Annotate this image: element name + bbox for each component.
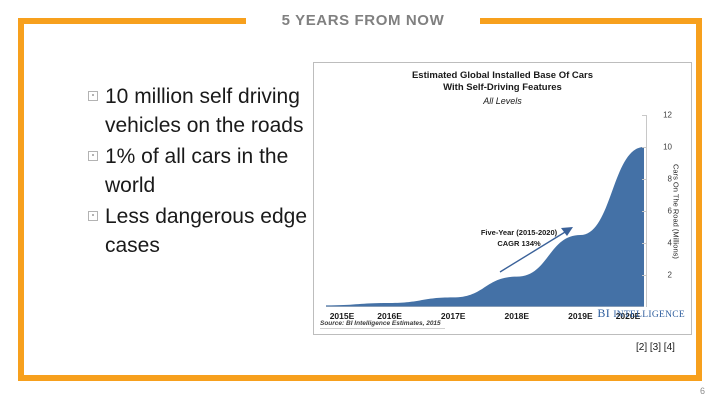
citation-references: [2] [3] [4] (636, 342, 675, 353)
logo-name: INTELLIGENCE (613, 310, 685, 320)
chart-title-line-1: Estimated Global Installed Base Of Cars (314, 70, 691, 82)
cagr-annotation: Five-Year (2015-2020) CAGR 134% (454, 227, 584, 249)
bi-intelligence-logo: BI INTELLIGENCE (597, 306, 685, 321)
bullet-text: 1% of all cars in the world (105, 142, 320, 200)
cagr-annotation-line-1: Five-Year (2015-2020) (454, 227, 584, 238)
y-axis-tick-mark (642, 147, 646, 148)
square-bullet-icon (88, 91, 98, 101)
y-axis-line (646, 115, 647, 307)
frame-border-top-right (480, 18, 702, 24)
square-bullet-icon (88, 211, 98, 221)
bullet-text: 10 million self driving vehicles on the … (105, 82, 320, 140)
chart-title-line-2: With Self-Driving Features (314, 82, 691, 94)
page-number: 6 (700, 386, 705, 396)
y-axis: 12108642 (646, 115, 672, 307)
chart-panel: Estimated Global Installed Base Of Cars … (313, 62, 692, 335)
logo-prefix: BI (597, 306, 610, 320)
frame-border-bottom (18, 375, 702, 381)
list-item: 1% of all cars in the world (88, 142, 320, 200)
list-item: Less dangerous edge cases (88, 202, 320, 260)
y-axis-tick-mark (642, 211, 646, 212)
y-axis-tick-mark (642, 179, 646, 180)
y-axis-tick-mark (642, 115, 646, 116)
y-axis-title: Cars On The Road (Millions) (670, 115, 682, 307)
frame-border-top-left (18, 18, 246, 24)
frame-border-right (696, 18, 702, 381)
area-chart-svg (326, 115, 644, 307)
list-item: 10 million self driving vehicles on the … (88, 82, 320, 140)
slide: 5 YEARS FROM NOW 10 million self driving… (0, 0, 720, 405)
x-axis-tick-label: 2019E (568, 311, 593, 321)
square-bullet-icon (88, 151, 98, 161)
frame-border-left (18, 18, 24, 381)
chart-source: Source: BI Intelligence Estimates, 2015 (320, 320, 445, 329)
x-axis-tick-label: 2018E (505, 311, 530, 321)
y-axis-tick-mark (642, 275, 646, 276)
bullet-list: 10 million self driving vehicles on the … (88, 82, 320, 262)
bullet-text: Less dangerous edge cases (105, 202, 320, 260)
slide-title: 5 YEARS FROM NOW (250, 12, 476, 30)
chart-subtitle: All Levels (314, 96, 691, 106)
chart-title: Estimated Global Installed Base Of Cars … (314, 70, 691, 94)
chart-plot-area (326, 115, 644, 307)
cagr-annotation-line-2: CAGR 134% (454, 238, 584, 249)
y-axis-tick-mark (642, 243, 646, 244)
